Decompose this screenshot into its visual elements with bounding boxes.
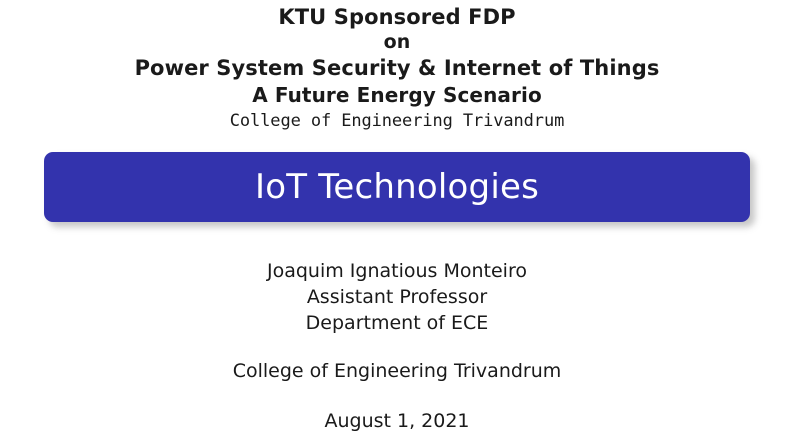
presenter-block: Joaquim Ignatious Monteiro Assistant Pro… xyxy=(0,258,794,434)
presenter-name: Joaquim Ignatious Monteiro xyxy=(0,258,794,284)
presenter-department: Department of ECE xyxy=(0,310,794,336)
event-topic-line: Power System Security & Internet of Thin… xyxy=(0,55,794,82)
presenter-affiliation: College of Engineering Trivandrum xyxy=(0,358,794,384)
slide-title: IoT Technologies xyxy=(255,170,539,204)
event-subtitle-line: A Future Energy Scenario xyxy=(0,82,794,108)
title-banner: IoT Technologies xyxy=(44,152,750,222)
event-sponsor-line: KTU Sponsored FDP xyxy=(0,4,794,30)
presentation-date: August 1, 2021 xyxy=(0,408,794,434)
presenter-designation: Assistant Professor xyxy=(0,284,794,310)
host-institution-line: College of Engineering Trivandrum xyxy=(0,108,794,134)
header-connector-line: on xyxy=(0,30,794,55)
spacer xyxy=(0,384,794,408)
header-block: KTU Sponsored FDP on Power System Securi… xyxy=(0,4,794,134)
spacer xyxy=(0,336,794,358)
title-slide: KTU Sponsored FDP on Power System Securi… xyxy=(0,0,794,447)
